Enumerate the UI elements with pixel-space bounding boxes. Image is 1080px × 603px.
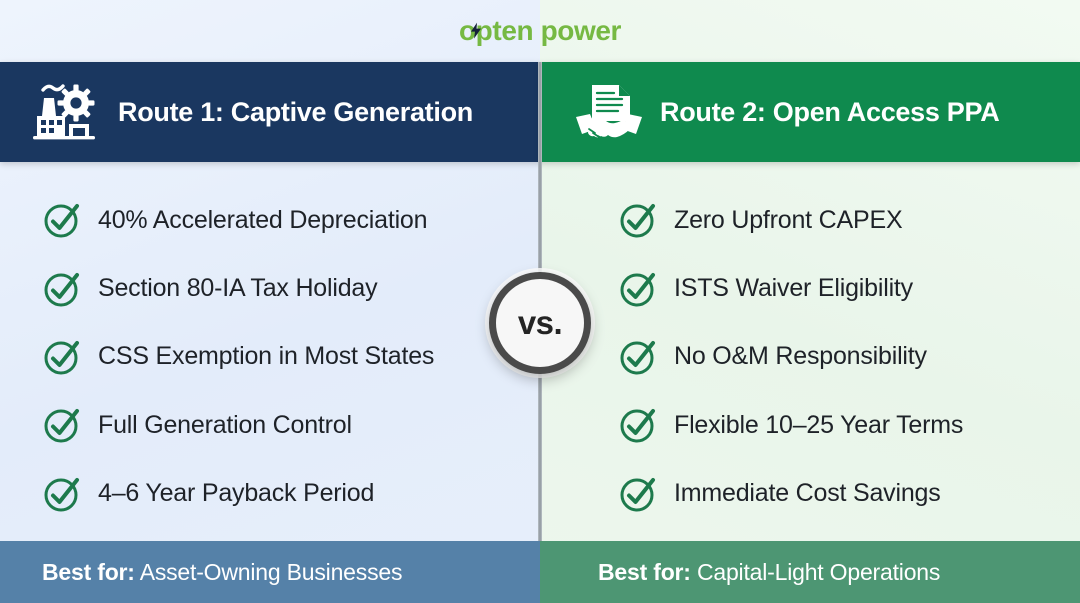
route-1-best-for: Best for: Asset-Owning Businesses [42,559,402,586]
route-2-footer: Best for: Capital-Light Operations [540,541,1080,603]
feature-label: Full Generation Control [98,411,352,440]
check-circle-icon [42,337,82,377]
factory-gear-icon [30,81,104,143]
route-2-best-for: Best for: Capital-Light Operations [598,559,940,586]
best-for-label: Best for: [598,559,691,585]
feature-label: 4–6 Year Payback Period [98,479,374,508]
check-circle-icon [42,405,82,445]
check-circle-icon [618,337,658,377]
route-2-header: Route 2: Open Access PPA [540,62,1080,162]
check-circle-icon [618,474,658,514]
check-circle-icon [618,200,658,240]
list-item: CSS Exemption in Most States [42,323,540,391]
check-circle-icon [618,405,658,445]
check-circle-icon [42,474,82,514]
logo-text-part-1: op [459,15,492,47]
list-item: No O&M Responsibility [540,323,1080,391]
brand-logo: op ten power [459,15,621,47]
feature-label: Zero Upfront CAPEX [674,206,902,235]
feature-label: Immediate Cost Savings [674,479,941,508]
list-item: Flexible 10–25 Year Terms [540,391,1080,459]
list-item: Immediate Cost Savings [540,460,1080,528]
brand-header: op ten power [0,0,1080,62]
best-for-label: Best for: [42,559,135,585]
list-item: Full Generation Control [42,391,540,459]
comparison-infographic: op ten power [0,0,1080,603]
route-1-title: Route 1: Captive Generation [118,97,473,128]
feature-label: ISTS Waiver Eligibility [674,274,913,303]
list-item: 40% Accelerated Depreciation [42,186,540,254]
feature-label: No O&M Responsibility [674,342,927,371]
feature-label: Section 80-IA Tax Holiday [98,274,377,303]
lightning-bolt-icon [470,23,482,39]
versus-label: vs. [518,304,562,342]
document-handshake-icon [572,81,646,143]
list-item: ISTS Waiver Eligibility [540,254,1080,322]
route-1-footer: Best for: Asset-Owning Businesses [0,541,540,603]
list-item: Section 80-IA Tax Holiday [42,254,540,322]
check-circle-icon [42,200,82,240]
route-1-header: Route 1: Captive Generation [0,62,540,162]
list-item: 4–6 Year Payback Period [42,460,540,528]
feature-label: 40% Accelerated Depreciation [98,206,427,235]
feature-label: Flexible 10–25 Year Terms [674,411,963,440]
check-circle-icon [42,269,82,309]
feature-label: CSS Exemption in Most States [98,342,434,371]
logo-text-ten-power: ten power [492,15,621,47]
versus-badge: vs. [489,272,591,374]
list-item: Zero Upfront CAPEX [540,186,1080,254]
route-2-feature-list: Zero Upfront CAPEX ISTS Waiver Eligibili… [540,162,1080,541]
check-circle-icon [618,269,658,309]
best-for-value: Capital-Light Operations [697,559,940,585]
route-2-title: Route 2: Open Access PPA [660,97,999,128]
route-1-feature-list: 40% Accelerated Depreciation Section 80-… [0,162,540,541]
best-for-value: Asset-Owning Businesses [140,559,403,585]
